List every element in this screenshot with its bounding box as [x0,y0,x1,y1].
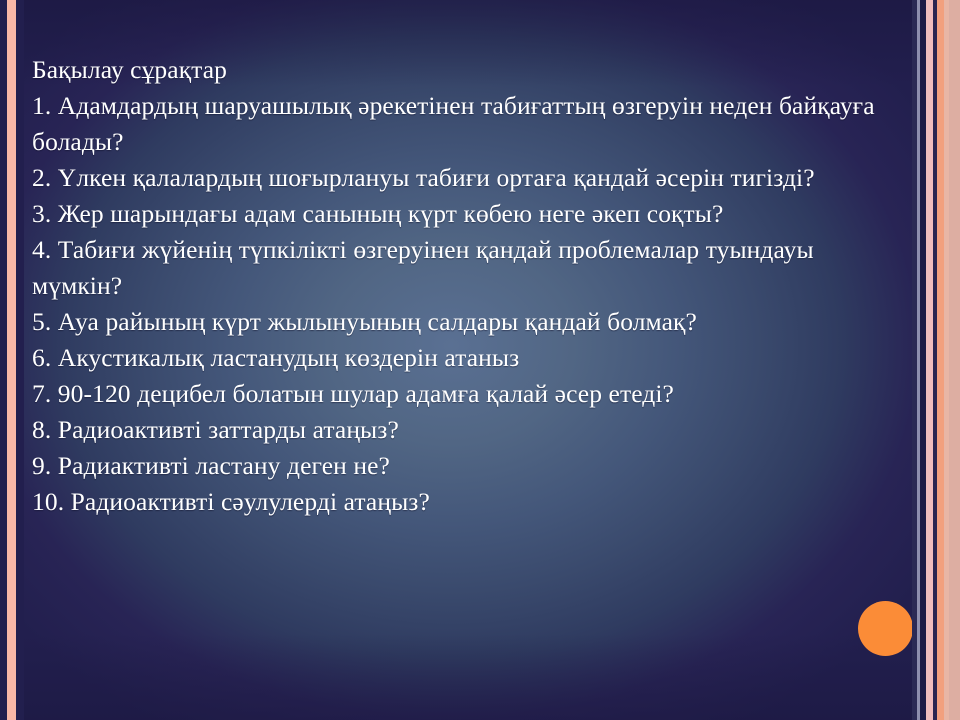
question-item-6: 6. Акустикалық ластанудың көздерін атаны… [32,340,892,376]
question-item-1: 1. Адамдардың шаруашылық әрекетінен таби… [32,88,892,160]
question-item-5: 5. Ауа райының күрт жылынуының салдары қ… [32,304,892,340]
slide-canvas: Бақылау сұрақтар 1. Адамдардың шаруашылы… [0,0,960,720]
question-item-2: 2. Үлкен қалалардың шоғырлануы табиғи ор… [32,160,892,196]
right-decorative-border [912,0,960,720]
left-border-stripe-navy-inner [16,0,24,720]
question-item-8: 8. Радиоактивті заттарды атаңыз? [32,412,892,448]
question-item-4: 4. Табиғи жүйенің түпкілікті өзгеруінен … [32,232,892,304]
left-border-stripe-navy-outer [0,0,7,720]
left-border-stripe-pink [7,0,16,720]
question-item-3: 3. Жер шарындағы адам санының күрт көбею… [32,196,892,232]
right-border-stripe-8 [949,0,960,720]
question-item-7: 7. 90-120 децибел болатын шулар адамға қ… [32,376,892,412]
question-item-10: 10. Радиоактивті сәулулерді атаңыз? [32,484,892,520]
slide-heading: Бақылау сұрақтар [32,52,892,88]
orange-circle-accent [858,601,913,656]
right-border-stripe-6 [937,0,944,720]
left-decorative-border [0,0,24,720]
slide-text-body: Бақылау сұрақтар 1. Адамдардың шаруашылы… [32,52,892,520]
question-item-9: 9. Радиактивті ластану деген не? [32,448,892,484]
right-border-stripe-4 [926,0,933,720]
